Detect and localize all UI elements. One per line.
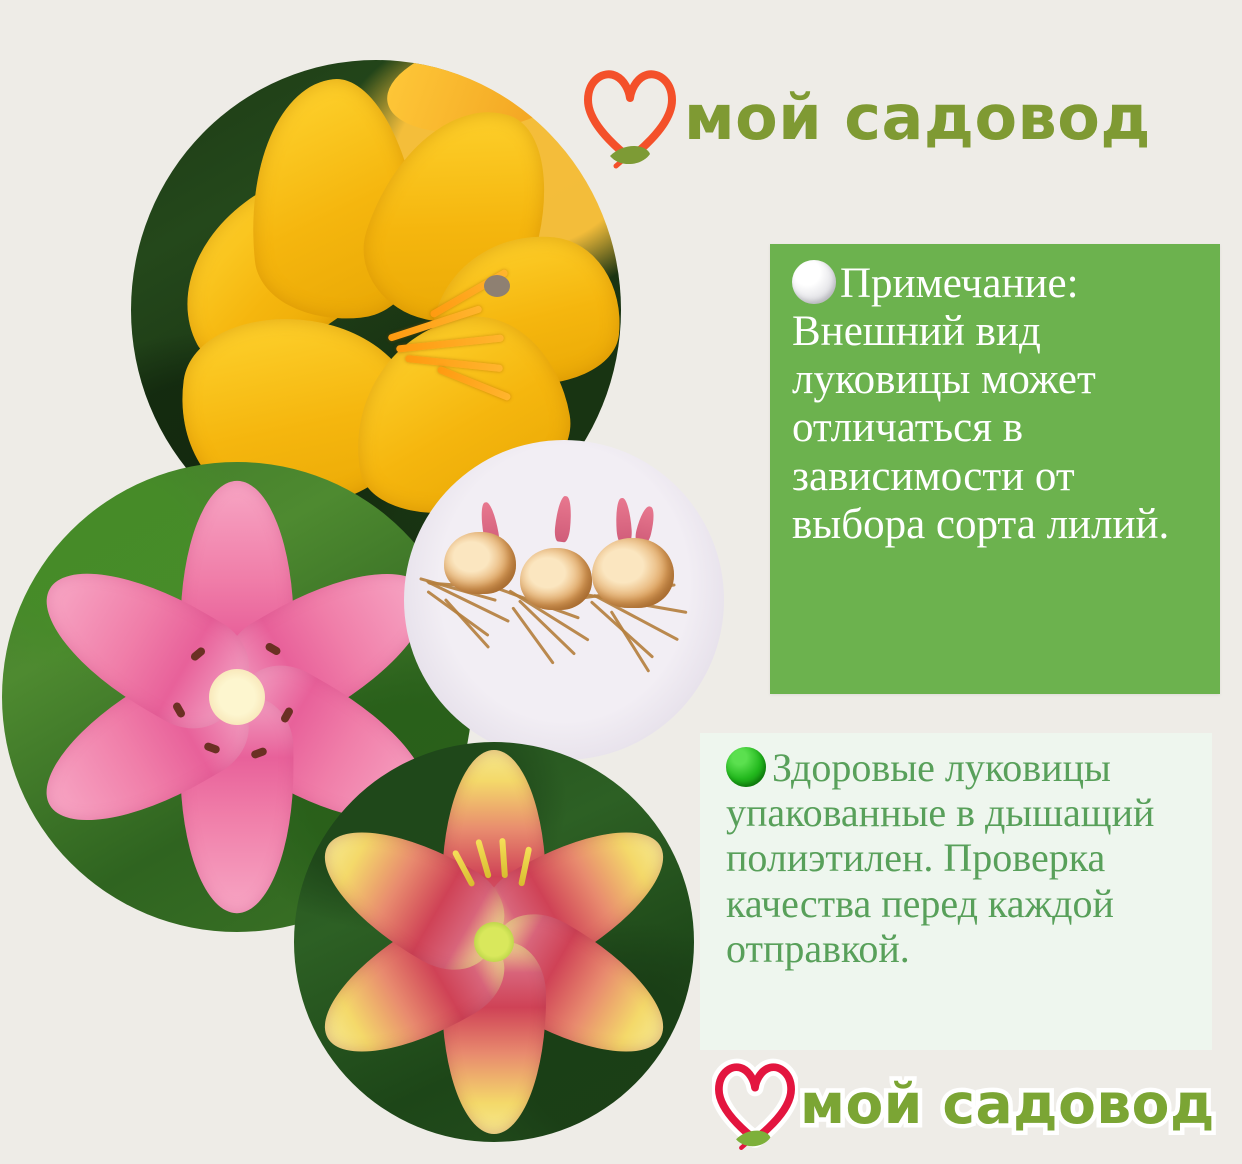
note-text-block: Примечание: Внешний вид луковицы может о… xyxy=(770,244,1220,549)
yellow-lily-pistil xyxy=(484,275,510,297)
brand-name-top: мой садовод xyxy=(684,81,1151,154)
green-circle-bullet-icon xyxy=(726,747,766,787)
bulb-sprout xyxy=(554,495,574,542)
lily-bulb xyxy=(592,538,674,608)
white-circle-bullet-icon xyxy=(792,260,836,304)
brand-logo-top: мой садовод xyxy=(580,62,1151,172)
photo-lily-bulbs xyxy=(404,440,724,760)
brand-logo-bottom: мой садовод xyxy=(712,1056,1215,1152)
pink-lily-center xyxy=(209,669,265,725)
heart-outline-icon xyxy=(712,1056,798,1152)
heart-outline-icon xyxy=(580,62,680,172)
quality-full-text: Здоровые луковицы упакованные в дышащий … xyxy=(726,745,1154,971)
poster-canvas: мой садовод Примечание: Внешний вид луко… xyxy=(0,0,1242,1164)
brand-name-bottom: мой садовод xyxy=(800,1072,1215,1136)
bicolor-lily-center xyxy=(474,922,514,962)
note-box: Примечание: Внешний вид луковицы может о… xyxy=(770,244,1220,694)
lily-bulb xyxy=(444,532,516,594)
photo-bicolor-lily xyxy=(294,742,694,1142)
note-full-text: Примечание: Внешний вид луковицы может о… xyxy=(792,260,1169,548)
lily-bulb xyxy=(520,548,592,610)
quality-text-block: Здоровые луковицы упакованные в дышащий … xyxy=(700,733,1212,971)
quality-box: Здоровые луковицы упакованные в дышащий … xyxy=(700,733,1212,1050)
